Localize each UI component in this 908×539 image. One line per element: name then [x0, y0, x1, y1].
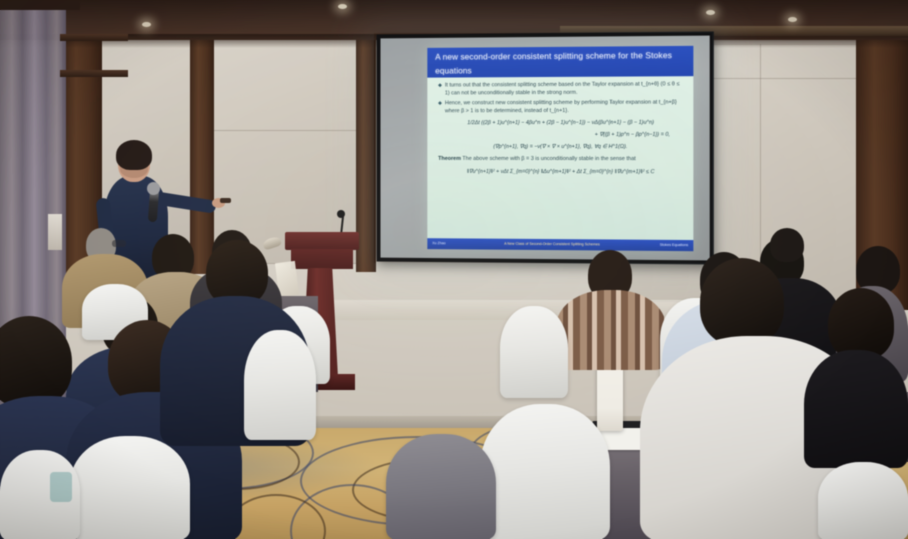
- presenter-hair: [116, 140, 152, 170]
- jacket-print: [50, 472, 72, 502]
- wall-shelf: [60, 70, 128, 77]
- laser-pointer: [220, 198, 231, 203]
- wall-vent: [48, 214, 62, 250]
- gooseneck-microphone-icon: [337, 210, 345, 218]
- attendee-shoulders: [804, 350, 908, 468]
- chair-back: [500, 306, 568, 398]
- ceiling-downlight: [338, 4, 347, 9]
- bullet-dot: ◆: [438, 101, 442, 116]
- wall-shelf: [60, 34, 128, 41]
- slide-footer-title: A New Class of Second-Order Consistent S…: [504, 239, 600, 251]
- slide-footer: Xu Zhao A New Class of Second-Order Cons…: [427, 238, 693, 251]
- presentation-slide: A new second-order consistent splitting …: [427, 46, 693, 251]
- slide-bullet: ◆ It turns out that the consistent split…: [438, 81, 684, 97]
- attendee-head: [700, 258, 784, 346]
- chair-front: [244, 330, 316, 440]
- chair-front-gray: [386, 434, 496, 539]
- eyeglasses-icon: [112, 240, 126, 247]
- chair-front: [480, 404, 610, 539]
- slide-theorem-label: Theorem: [438, 156, 461, 162]
- chair-front: [70, 436, 190, 539]
- ceiling-downlight: [142, 22, 151, 27]
- bullet-dot: ◆: [438, 83, 442, 98]
- wood-column-mid: [356, 22, 376, 272]
- wall-panel-line: [210, 130, 360, 131]
- attendee-shoulders-plaid: [556, 290, 666, 370]
- slide-bullet-text: Hence, we construct new consistent split…: [445, 100, 684, 116]
- lectern-top: [285, 232, 359, 250]
- lectern-shelf: [291, 249, 353, 269]
- conference-photo: A new second-order consistent splitting …: [0, 0, 908, 539]
- slide-theorem: Theorem The above scheme with β = 3 is u…: [438, 156, 684, 164]
- chair-front: [818, 462, 908, 539]
- curtain-rod: [0, 0, 80, 10]
- screen-surface: A new second-order consistent splitting …: [380, 36, 709, 261]
- attendee-head: [770, 228, 804, 262]
- slide-theorem-text: The above scheme with β = 3 is unconditi…: [462, 156, 635, 162]
- ceiling-downlight: [706, 10, 715, 15]
- slide-theorem-equation: ‖∇u^{n+1}‖² + νΔt Σ_{m=0}^{n} ‖Δu^{m+1}‖…: [438, 168, 684, 176]
- slide-footer-author: Xu Zhao: [432, 238, 445, 249]
- microphone-head-icon: [147, 182, 160, 195]
- slide-equation: (∇p^{n+1}, ∇q) = −ν(∇ × ∇ × u^{n+1}, ∇q)…: [438, 143, 684, 151]
- slide-equation: + ∇((β + 1)p^n − βp^{n−1}) = 0,: [438, 131, 684, 139]
- projection-screen: A new second-order consistent splitting …: [377, 31, 714, 264]
- slide-body: ◆ It turns out that the consistent split…: [427, 76, 693, 240]
- slide-title: A new second-order consistent splitting …: [427, 46, 693, 78]
- ceiling-downlight: [788, 17, 797, 22]
- slide-equation: 1/2Δt ((2β + 1)u^{n+1} − 4βu^n + (2β − 1…: [438, 119, 684, 127]
- slide-footer-topic: Stokes Equations: [660, 240, 688, 251]
- slide-bullet: ◆ Hence, we construct new consistent spl…: [438, 100, 684, 116]
- slide-bullet-text: It turns out that the consistent splitti…: [445, 81, 684, 97]
